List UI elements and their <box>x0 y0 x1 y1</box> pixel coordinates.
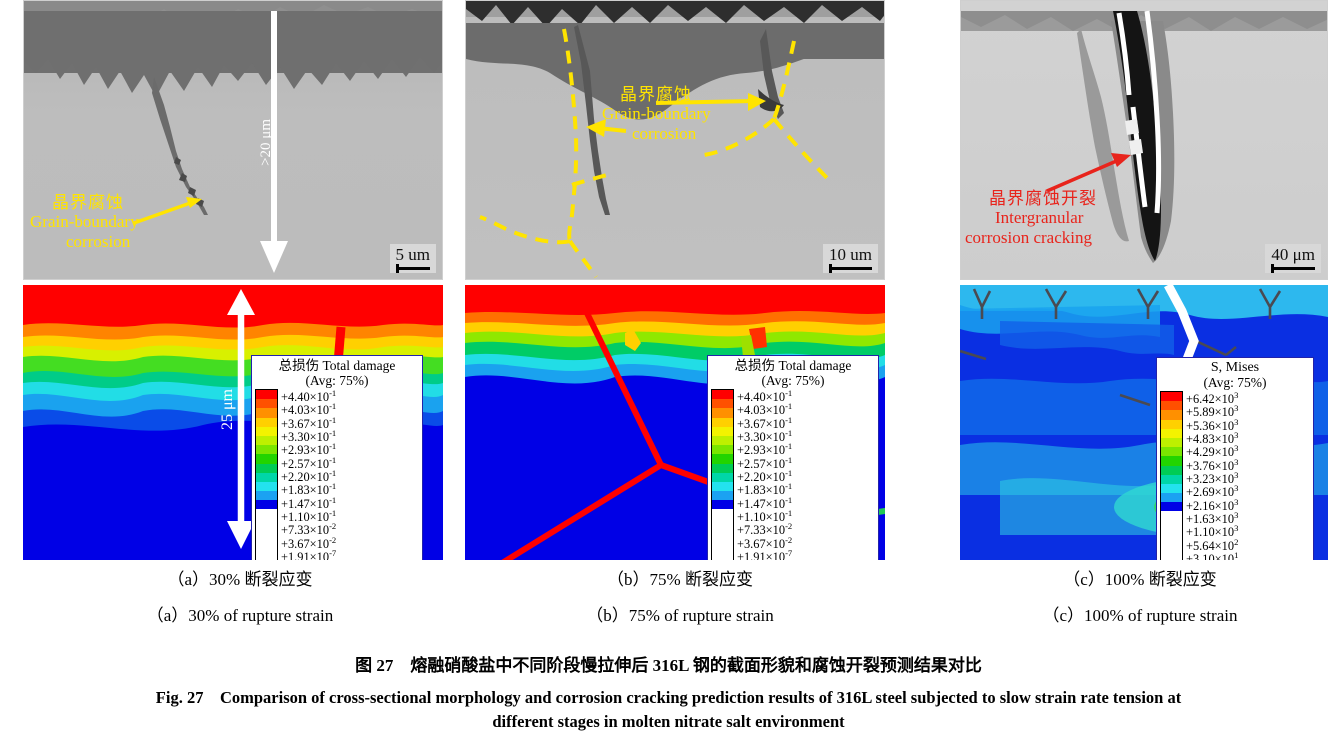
legend-value-6: +2.20×10-1 <box>281 469 336 482</box>
panel-c-legend: S, Mises (Avg: 75%) +6.42×103+5.89×103+5… <box>1156 357 1314 560</box>
panel-b-scalebar: 10 um <box>823 244 878 273</box>
panel-c: 晶界腐蚀开裂 Intergranular corrosion cracking … <box>960 0 1328 560</box>
panel-c-scalebar: 40 μm <box>1265 244 1321 273</box>
legend-swatch-5 <box>256 436 277 445</box>
legend-value-3: +3.30×10-1 <box>281 429 336 442</box>
panel-b-legend-values: +4.40×10-1+4.03×10-1+3.67×10-1+3.30×10-1… <box>737 389 792 560</box>
legend-swatch-8 <box>1161 466 1182 475</box>
legend-value-4: +4.29×103 <box>1186 444 1238 457</box>
figure-caption-en-line1: Fig. 27 Comparison of cross-sectional mo… <box>0 684 1337 708</box>
legend-swatch-0 <box>712 390 733 399</box>
panel-a-annotation-en1: Grain-boundary <box>30 212 139 231</box>
panel-a-scalebar-label: 5 um <box>396 245 430 264</box>
panel-b-caption-en: （b）75% of rupture strain <box>500 601 860 626</box>
legend-swatch-3 <box>1161 420 1182 429</box>
legend-value-10: +1.10×103 <box>1186 524 1238 537</box>
panel-a-annotation: 晶界腐蚀 Grain-boundary corrosion <box>30 193 139 251</box>
legend-value-4: +2.93×10-1 <box>737 442 792 455</box>
legend-swatch-6 <box>712 445 733 454</box>
panel-a-depth-label: >20 μm <box>258 119 275 166</box>
legend-swatch-12 <box>712 500 733 509</box>
panel-c-scalebar-label: 40 μm <box>1271 245 1315 264</box>
legend-swatch-11 <box>712 491 733 500</box>
legend-swatch-10 <box>712 482 733 491</box>
legend-swatch-4 <box>256 427 277 436</box>
panel-c-legend-title: S, Mises <box>1160 360 1310 375</box>
legend-value-8: +2.16×103 <box>1186 498 1238 511</box>
legend-value-12: +1.91×10-7 <box>737 549 792 560</box>
legend-value-9: +1.10×10-1 <box>737 509 792 522</box>
panel-c-annotation-en1: Intergranular <box>965 208 1097 227</box>
figure-caption-cn: 图 27 熔融硝酸盐中不同阶段慢拉伸后 316L 钢的截面形貌和腐蚀开裂预测结果… <box>0 651 1337 676</box>
legend-swatch-9 <box>1161 475 1182 484</box>
panel-c-annotation-cn: 晶界腐蚀开裂 <box>965 189 1097 208</box>
legend-swatch-0 <box>256 390 277 399</box>
legend-value-5: +3.76×103 <box>1186 458 1238 471</box>
legend-swatch-2 <box>256 408 277 417</box>
panel-a-legend-title: 总损伤 Total damage <box>255 358 419 373</box>
legend-value-8: +1.47×10-1 <box>737 496 792 509</box>
legend-swatch-1 <box>712 399 733 408</box>
panel-a-legend: 总损伤 Total damage (Avg: 75%) +4.40×10-1+4… <box>251 355 423 560</box>
legend-swatch-9 <box>712 473 733 482</box>
panel-b-scalebar-rule <box>829 264 872 273</box>
legend-swatch-1 <box>1161 401 1182 410</box>
legend-value-7: +1.83×10-1 <box>281 482 336 495</box>
legend-value-2: +3.67×10-1 <box>737 416 792 429</box>
legend-swatch-7 <box>256 454 277 463</box>
panel-a-sem-image: 晶界腐蚀 Grain-boundary corrosion >20 μm 5 u… <box>23 0 443 280</box>
legend-value-10: +7.33×10-2 <box>281 522 336 535</box>
legend-swatch-5 <box>712 436 733 445</box>
panel-a-scalebar: 5 um <box>390 244 436 273</box>
legend-swatch-5 <box>1161 438 1182 447</box>
legend-swatch-3 <box>256 418 277 427</box>
panel-c-caption-en: （c）100% of rupture strain <box>955 601 1325 626</box>
panel-b-annotation-en1: Grain-boundary <box>602 104 711 123</box>
legend-value-1: +4.03×10-1 <box>737 402 792 415</box>
panel-b-legend-swatches <box>711 389 734 560</box>
legend-swatch-12 <box>1161 502 1182 511</box>
legend-swatch-9 <box>256 473 277 482</box>
panel-b-simulation: 总损伤 Total damage (Avg: 75%) +4.40×10-1+4… <box>465 285 885 560</box>
panel-a-annotation-en2: corrosion <box>30 232 139 251</box>
legend-swatch-0 <box>1161 392 1182 401</box>
legend-value-5: +2.57×10-1 <box>281 456 336 469</box>
sem-oxide-band <box>24 11 442 73</box>
legend-value-12: +1.91×10-7 <box>281 549 336 560</box>
panel-captions: （a）30% 断裂应变 （a）30% of rupture strain （b）… <box>0 565 1337 635</box>
panel-a-scalebar-rule <box>396 264 430 273</box>
panel-a-caption-en: （a）30% of rupture strain <box>60 601 420 626</box>
legend-swatch-10 <box>256 482 277 491</box>
legend-value-8: +1.47×10-1 <box>281 496 336 509</box>
panel-a-legend-subtitle: (Avg: 75%) <box>255 373 419 388</box>
panel-b: 晶界腐蚀 Grain-boundary corrosion 10 um <box>465 0 885 560</box>
panel-b-legend-subtitle: (Avg: 75%) <box>711 373 875 388</box>
panel-c-legend-subtitle: (Avg: 75%) <box>1160 375 1310 390</box>
panel-a-annotation-cn: 晶界腐蚀 <box>30 193 139 212</box>
legend-value-2: +5.36×103 <box>1186 418 1238 431</box>
legend-swatch-4 <box>712 427 733 436</box>
figure-caption-en-line2: different stages in molten nitrate salt … <box>0 712 1337 732</box>
legend-value-6: +2.20×10-1 <box>737 469 792 482</box>
panel-c-legend-values: +6.42×103+5.89×103+5.36×103+4.83×103+4.2… <box>1186 391 1238 560</box>
panel-b-annotation: 晶界腐蚀 Grain-boundary corrosion <box>602 85 711 143</box>
panel-b-annotation-en2: corrosion <box>602 124 711 143</box>
legend-value-9: +1.10×10-1 <box>281 509 336 522</box>
panel-c-caption-cn: （c）100% 断裂应变 <box>955 565 1325 590</box>
panel-b-legend: 总损伤 Total damage (Avg: 75%) +4.40×10-1+4… <box>707 355 879 560</box>
legend-value-9: +1.63×103 <box>1186 511 1238 524</box>
panel-c-annotation: 晶界腐蚀开裂 Intergranular corrosion cracking <box>965 189 1097 247</box>
legend-value-1: +4.03×10-1 <box>281 402 336 415</box>
legend-swatch-11 <box>256 491 277 500</box>
panel-c-scalebar-rule <box>1271 264 1315 273</box>
panel-a-legend-values: +4.40×10-1+4.03×10-1+3.67×10-1+3.30×10-1… <box>281 389 336 560</box>
panel-b-legend-title: 总损伤 Total damage <box>711 358 875 373</box>
legend-value-7: +2.69×103 <box>1186 484 1238 497</box>
legend-swatch-11 <box>1161 493 1182 502</box>
legend-value-0: +4.40×10-1 <box>281 389 336 402</box>
legend-swatch-8 <box>712 464 733 473</box>
legend-value-3: +3.30×10-1 <box>737 429 792 442</box>
panel-b-sem-image: 晶界腐蚀 Grain-boundary corrosion 10 um <box>465 0 885 280</box>
legend-value-11: +3.67×10-2 <box>281 536 336 549</box>
legend-value-4: +2.93×10-1 <box>281 442 336 455</box>
legend-swatch-8 <box>256 464 277 473</box>
legend-value-10: +7.33×10-2 <box>737 522 792 535</box>
legend-value-3: +4.83×103 <box>1186 431 1238 444</box>
panel-c-simulation: S, Mises (Avg: 75%) +6.42×103+5.89×103+5… <box>960 285 1328 560</box>
panel-c-legend-swatches <box>1160 391 1183 560</box>
legend-value-7: +1.83×10-1 <box>737 482 792 495</box>
legend-value-1: +5.89×103 <box>1186 404 1238 417</box>
legend-value-6: +3.23×103 <box>1186 471 1238 484</box>
legend-swatch-10 <box>1161 484 1182 493</box>
legend-value-5: +2.57×10-1 <box>737 456 792 469</box>
legend-swatch-7 <box>712 454 733 463</box>
legend-swatch-6 <box>256 445 277 454</box>
legend-value-2: +3.67×10-1 <box>281 416 336 429</box>
panel-c-annotation-en2: corrosion cracking <box>965 228 1097 247</box>
panel-a-sim-depth-label: 25 μm <box>219 389 237 430</box>
panel-a-legend-swatches <box>255 389 278 560</box>
figure-27: 晶界腐蚀 Grain-boundary corrosion >20 μm 5 u… <box>0 0 1337 743</box>
panel-a-caption-cn: （a）30% 断裂应变 <box>60 565 420 590</box>
legend-swatch-4 <box>1161 429 1182 438</box>
legend-swatch-7 <box>1161 456 1182 465</box>
legend-value-0: +6.42×103 <box>1186 391 1238 404</box>
panel-b-scalebar-label: 10 um <box>829 245 872 264</box>
panel-a: 晶界腐蚀 Grain-boundary corrosion >20 μm 5 u… <box>23 0 443 560</box>
legend-swatch-1 <box>256 399 277 408</box>
legend-swatch-2 <box>1161 410 1182 419</box>
panel-c-sem-image: 晶界腐蚀开裂 Intergranular corrosion cracking … <box>960 0 1328 280</box>
legend-swatch-2 <box>712 408 733 417</box>
legend-swatch-12 <box>256 500 277 509</box>
panel-b-caption-cn: （b）75% 断裂应变 <box>500 565 860 590</box>
legend-value-12: +3.10×101 <box>1186 551 1238 560</box>
legend-swatch-3 <box>712 418 733 427</box>
panel-a-simulation: 25 μm 总损伤 Total damage (Avg: 75%) +4.40×… <box>23 285 443 560</box>
legend-swatch-6 <box>1161 447 1182 456</box>
legend-value-0: +4.40×10-1 <box>737 389 792 402</box>
legend-value-11: +5.64×102 <box>1186 538 1238 551</box>
legend-value-11: +3.67×10-2 <box>737 536 792 549</box>
panel-b-annotation-cn: 晶界腐蚀 <box>602 85 711 104</box>
